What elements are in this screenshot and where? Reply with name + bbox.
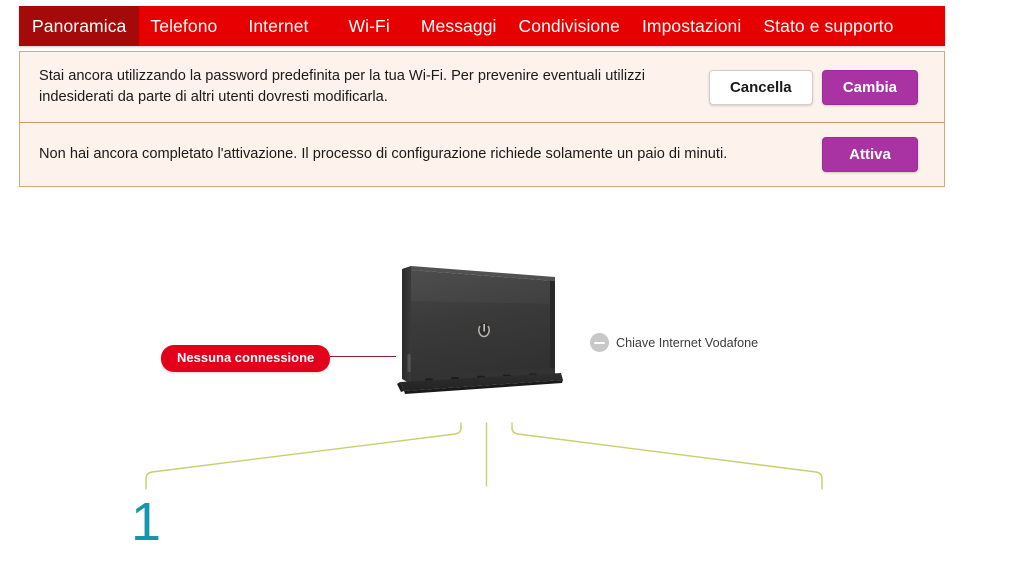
alert-activation-incomplete: Non hai ancora completato l'attivazione.… bbox=[20, 122, 944, 186]
alert-message: Stai ancora utilizzando la password pred… bbox=[39, 66, 709, 108]
tab-telefono[interactable]: Telefono bbox=[139, 6, 228, 46]
tab-label: Stato e supporto bbox=[763, 16, 893, 37]
tab-label: Impostazioni bbox=[642, 16, 741, 37]
branch-left bbox=[146, 423, 461, 489]
cancel-button[interactable]: Cancella bbox=[709, 70, 813, 105]
activate-button[interactable]: Attiva bbox=[822, 137, 918, 172]
tab-label: Condivisione bbox=[519, 16, 620, 37]
tab-label: Wi-Fi bbox=[349, 16, 390, 37]
tab-panoramica[interactable]: Panoramica bbox=[19, 6, 139, 46]
alert-actions: Cancella Cambia bbox=[709, 70, 918, 105]
tab-label: Internet bbox=[248, 16, 308, 37]
tab-label: Panoramica bbox=[32, 16, 126, 37]
tab-label: Messaggi bbox=[421, 16, 497, 37]
alert-actions: Attiva bbox=[822, 137, 918, 172]
alert-banner-group: Stai ancora utilizzando la password pred… bbox=[19, 51, 945, 187]
tab-wifi[interactable]: Wi-Fi bbox=[329, 6, 410, 46]
branch-right bbox=[512, 423, 822, 489]
tab-stato-e-supporto[interactable]: Stato e supporto bbox=[752, 6, 904, 46]
tab-internet[interactable]: Internet bbox=[228, 6, 328, 46]
alert-wifi-default-password: Stai ancora utilizzando la password pred… bbox=[20, 52, 944, 122]
alert-message: Non hai ancora completato l'attivazione.… bbox=[39, 144, 727, 165]
tab-label: Telefono bbox=[150, 16, 217, 37]
main-navigation-bar: Panoramica Telefono Internet Wi-Fi Messa… bbox=[19, 6, 945, 46]
tab-impostazioni[interactable]: Impostazioni bbox=[631, 6, 752, 46]
change-password-button[interactable]: Cambia bbox=[822, 70, 918, 105]
branch-count-label: 1 bbox=[131, 495, 161, 549]
network-overview-diagram: Nessuna connessione Chiave Internet Voda… bbox=[0, 226, 1024, 563]
tab-messaggi[interactable]: Messaggi bbox=[410, 6, 508, 46]
tab-condivisione[interactable]: Condivisione bbox=[508, 6, 631, 46]
